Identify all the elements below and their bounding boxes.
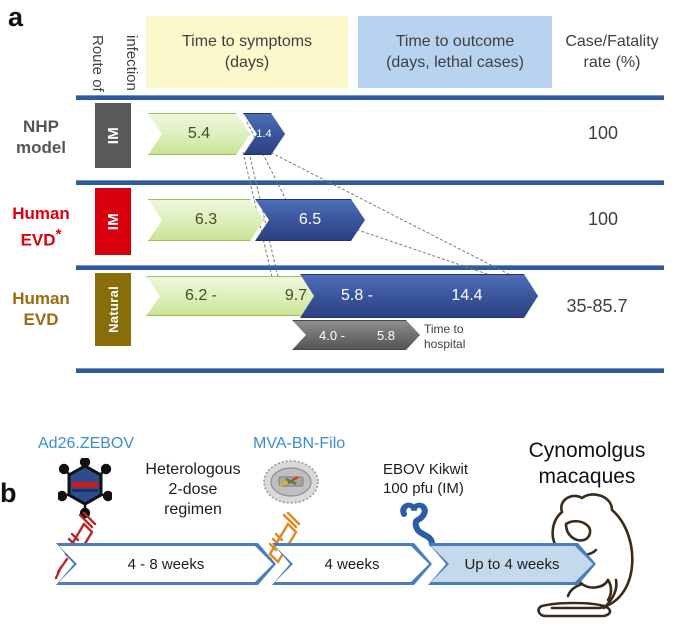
regimen-note-line2: 2-dose bbox=[128, 480, 258, 500]
header-symptoms-line2: (days) bbox=[225, 52, 269, 73]
species-label-line2: macaques bbox=[500, 464, 674, 490]
header-outcome-line2: (days, lethal cases) bbox=[386, 52, 524, 73]
chevron-hospital-low-value: 4.0 - bbox=[319, 328, 345, 343]
time-to-hospital-caption-line2: hospital bbox=[424, 337, 465, 352]
header-route-label: Route ofinfection bbox=[89, 35, 140, 92]
header-cfr-line1: Case/Fatality bbox=[565, 31, 658, 52]
row-label-human-evd-line1: Human bbox=[2, 288, 80, 309]
route-box-human-evd-star-label: IM bbox=[105, 213, 122, 230]
header-time-to-outcome: Time to outcome (days, lethal cases) bbox=[358, 16, 552, 88]
chevron-symptoms-human-evd-high-value: 9.7 bbox=[285, 287, 307, 305]
row-label-human-evd-star: Human EVD* bbox=[2, 203, 80, 251]
row-label-human-evd-line2: EVD bbox=[2, 309, 80, 330]
vaccine-2-title: MVA-BN-Filo bbox=[253, 435, 345, 453]
route-box-human-evd-label: Natural bbox=[106, 286, 121, 333]
panel-b-letter: b bbox=[0, 478, 17, 509]
regimen-note-line3: regimen bbox=[128, 500, 258, 520]
header-cfr-line2: rate (%) bbox=[584, 52, 641, 73]
row-label-nhp-line1: NHP bbox=[2, 116, 80, 137]
ebolavirus-filament-icon bbox=[398, 500, 454, 548]
chevron-outcome-human-evd-high: 14.4 bbox=[396, 274, 538, 318]
time-to-hospital-caption-line1: Time to bbox=[424, 322, 465, 337]
route-box-nhp: IM bbox=[95, 103, 131, 168]
timeline-segment-3: Up to 4 weeks bbox=[428, 543, 596, 585]
time-to-hospital-caption: Time to hospital bbox=[424, 322, 465, 352]
chevron-outcome-human-evd-star: 6.5 bbox=[255, 199, 365, 241]
cfr-value-human-evd-star: 100 bbox=[538, 209, 668, 230]
header-symptoms-line1: Time to symptoms bbox=[182, 31, 312, 52]
timeline-segment-2: 4 weeks bbox=[272, 543, 432, 585]
header-time-to-symptoms: Time to symptoms (days) bbox=[146, 16, 348, 88]
chevron-symptoms-nhp-value: 5.4 bbox=[188, 125, 210, 143]
row-label-human-evd-star-line1: Human bbox=[2, 203, 80, 224]
chevron-hospital-high-value: 5.8 bbox=[377, 328, 395, 343]
regimen-note-line1: Heterologous bbox=[128, 460, 258, 480]
panel-a: a Route ofinfection Time to symptoms (da… bbox=[0, 0, 674, 395]
cfr-value-nhp: 100 bbox=[538, 123, 668, 144]
chevron-outcome-human-evd-star-value: 6.5 bbox=[299, 211, 321, 229]
species-label: Cynomolgus macaques bbox=[500, 438, 674, 490]
chevron-outcome-human-evd-low-value: 5.8 - bbox=[341, 287, 373, 305]
divider-rule-1 bbox=[76, 180, 664, 185]
header-outcome-line1: Time to outcome bbox=[396, 31, 515, 52]
vaccine-1-title: Ad26.ZEBOV bbox=[38, 435, 134, 453]
chevron-outcome-nhp-value: 1.4 bbox=[256, 128, 271, 140]
timeline-segment-1: 4 - 8 weeks bbox=[56, 543, 276, 585]
cfr-value-human-evd: 35-85.7 bbox=[532, 296, 662, 317]
row-label-nhp: NHP model bbox=[2, 116, 80, 158]
header-case-fatality-rate: Case/Fatality rate (%) bbox=[556, 16, 668, 88]
chevron-symptoms-human-evd-low-value: 6.2 - bbox=[185, 287, 217, 305]
mva-virus-icon bbox=[262, 458, 320, 506]
row-label-asterisk: * bbox=[56, 226, 62, 243]
chevron-symptoms-human-evd-low: 6.2 - bbox=[146, 276, 256, 316]
regimen-note: Heterologous 2-dose regimen bbox=[128, 460, 258, 520]
row-label-human-evd-star-line2: EVD* bbox=[2, 224, 80, 251]
divider-rule-bottom bbox=[76, 368, 664, 373]
panel-a-letter: a bbox=[8, 2, 23, 33]
chevron-outcome-human-evd-low: 5.8 - bbox=[300, 274, 414, 318]
row-label-human-evd: Human EVD bbox=[2, 288, 80, 330]
species-label-line1: Cynomolgus bbox=[500, 438, 674, 464]
divider-rule-top bbox=[76, 95, 664, 100]
timeline-segment-1-label: 4 - 8 weeks bbox=[56, 543, 276, 585]
header-route-of-infection: Route ofinfection bbox=[86, 10, 142, 92]
row-label-nhp-line2: model bbox=[2, 137, 80, 158]
chevron-symptoms-human-evd-star: 6.3 bbox=[148, 199, 264, 241]
route-box-nhp-label: IM bbox=[105, 127, 122, 144]
timeline-segment-3-label: Up to 4 weeks bbox=[428, 543, 596, 585]
chevron-outcome-human-evd-high-value: 14.4 bbox=[451, 287, 482, 305]
divider-rule-2 bbox=[76, 265, 664, 270]
chevron-symptoms-nhp: 5.4 bbox=[148, 113, 250, 155]
panel-b: b Ad26.ZEBOV MVA-BN-Filo Heterologous 2-… bbox=[0, 400, 674, 627]
chevron-symptoms-human-evd-star-value: 6.3 bbox=[195, 211, 217, 229]
route-box-human-evd-star: IM bbox=[95, 188, 131, 255]
timeline-segment-2-label: 4 weeks bbox=[272, 543, 432, 585]
route-box-human-evd: Natural bbox=[95, 273, 131, 346]
